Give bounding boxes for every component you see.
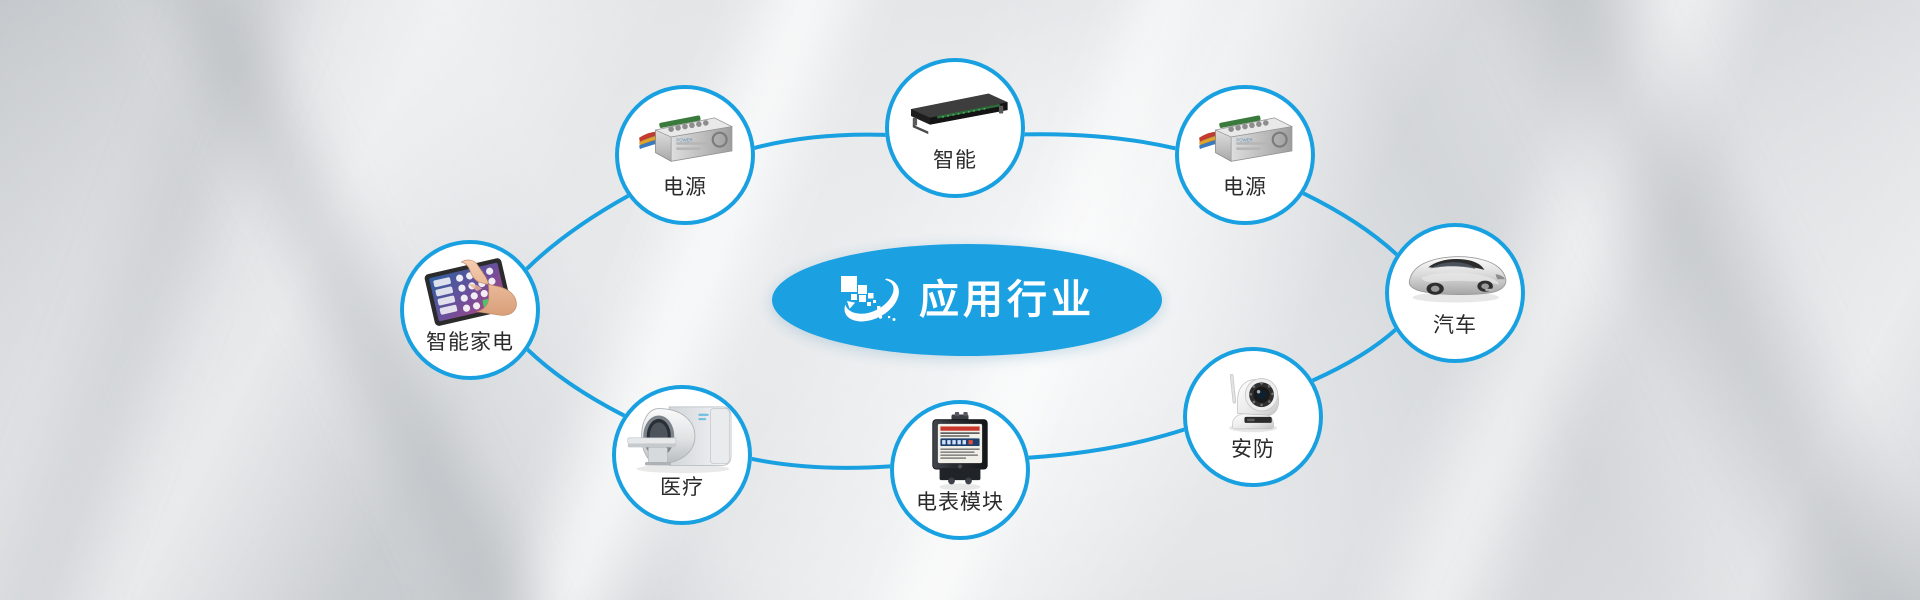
electric-meter-icon bbox=[890, 411, 1030, 492]
connector-automotive-to-security bbox=[1312, 329, 1396, 381]
industry-node-automotive[interactable]: 汽车 bbox=[1385, 223, 1525, 363]
industry-node-smart-appliance[interactable]: 智能家电 bbox=[400, 240, 540, 380]
center-badge[interactable]: 应用行业 bbox=[772, 244, 1162, 356]
rack-server-icon bbox=[885, 69, 1025, 150]
industry-node-power-supply-right[interactable]: POWER 电源 bbox=[1175, 85, 1315, 225]
connector-medical-to-smart-appliance bbox=[527, 349, 625, 416]
application-industries-banner: POWER 电源 智能 bbox=[0, 0, 1920, 600]
industry-node-label: 智能 bbox=[933, 150, 977, 171]
connector-meter-module-to-medical bbox=[751, 459, 891, 468]
industry-node-label: 电表模块 bbox=[916, 492, 1004, 513]
svg-text:POWER: POWER bbox=[1236, 137, 1252, 142]
ip-camera-icon bbox=[1183, 358, 1323, 439]
center-badge-title: 应用行业 bbox=[919, 280, 1095, 320]
atx-power-supply-icon: POWER bbox=[615, 96, 755, 177]
ct-scanner-icon bbox=[612, 396, 752, 477]
industry-node-label: 安防 bbox=[1231, 439, 1275, 460]
industry-node-power-supply-left[interactable]: POWER 电源 bbox=[615, 85, 755, 225]
connector-smart-to-power-supply-right bbox=[1024, 134, 1177, 148]
connector-power-supply-right-to-automotive bbox=[1303, 193, 1398, 255]
industry-node-medical[interactable]: 医疗 bbox=[612, 385, 752, 525]
connector-security-to-meter-module bbox=[1028, 429, 1185, 457]
sports-car-icon bbox=[1385, 234, 1525, 315]
industry-node-label: 电源 bbox=[663, 177, 707, 198]
connector-power-supply-left-to-smart bbox=[754, 135, 887, 149]
industry-node-label: 汽车 bbox=[1433, 315, 1477, 336]
industry-node-label: 电源 bbox=[1223, 177, 1267, 198]
tablet-hand-icon bbox=[400, 251, 540, 332]
industry-node-label: 医疗 bbox=[660, 477, 704, 498]
orbit-pixel-swoosh-logo-icon bbox=[839, 272, 905, 328]
atx-power-supply-icon: POWER bbox=[1175, 96, 1315, 177]
svg-text:POWER: POWER bbox=[676, 137, 692, 142]
industry-node-meter-module[interactable]: 电表模块 bbox=[890, 400, 1030, 540]
industry-node-smart[interactable]: 智能 bbox=[885, 58, 1025, 198]
industry-node-security[interactable]: 安防 bbox=[1183, 347, 1323, 487]
industry-node-label: 智能家电 bbox=[426, 332, 514, 353]
connector-smart-appliance-to-power-supply-left bbox=[526, 195, 629, 269]
